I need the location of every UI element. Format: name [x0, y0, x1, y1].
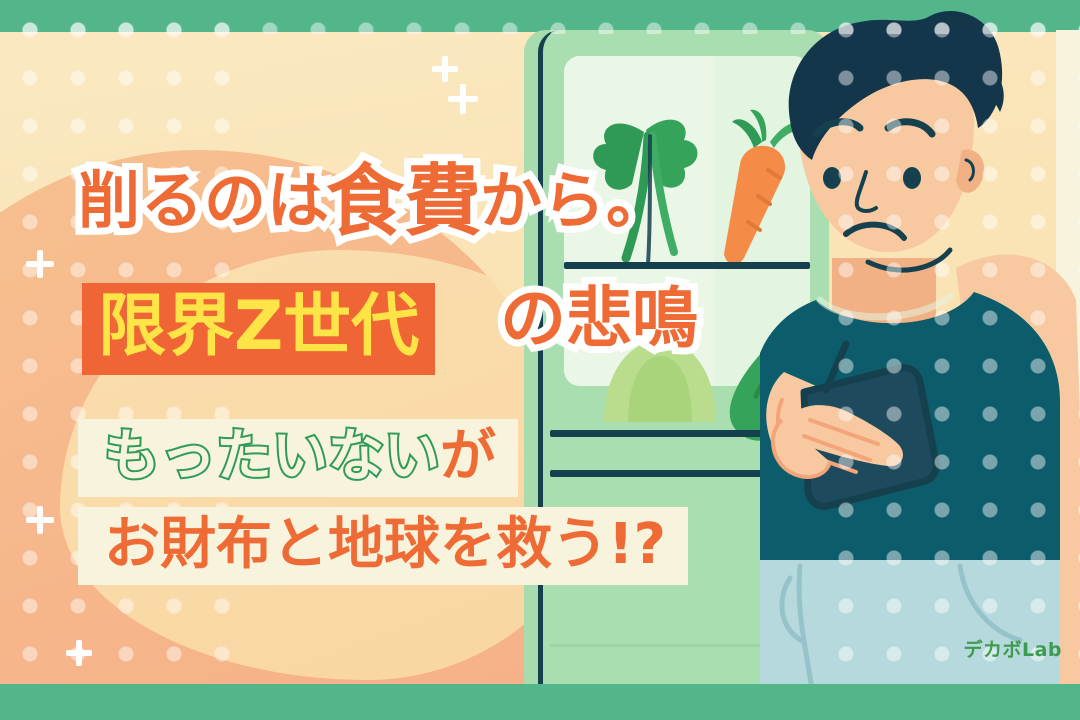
- man-illustration: [760, 0, 1080, 700]
- headline-line-1b: 食費: [326, 157, 482, 247]
- headline-line-1: 削るのは 削るのは 食費 食費 から。 から。: [78, 163, 669, 241]
- headline-line-2-banner: 限界Z世代: [82, 283, 435, 375]
- poster-canvas: 削るのは 削るのは 食費 食費 から。 から。 限界Z世代 の悲鳴 の悲鳴 もっ…: [0, 0, 1080, 720]
- headline-line-2-tail: の悲鳴 の悲鳴: [500, 286, 698, 352]
- dekabo-lab-logo: デカボLab: [963, 635, 1062, 662]
- headline-line-3-banner: もったいないが: [78, 419, 518, 497]
- headline-line-4-banner: お財布と地球を救う!?: [78, 507, 688, 585]
- headline-line-1a: 削るのは: [78, 164, 330, 237]
- plus-decor-icon-1: [432, 56, 458, 82]
- headline-line-2-banner-text: 限界Z世代: [98, 287, 419, 366]
- plus-decor-icon-2: [448, 84, 478, 114]
- headline-line-1c: から。: [480, 164, 669, 237]
- headline-line-4: お財布と地球を救う!?: [104, 512, 666, 577]
- headline-line-3a: もったいない: [104, 424, 440, 489]
- plus-decor-icon-5: [66, 640, 92, 666]
- headline-line-3b: が: [440, 424, 496, 489]
- bottom-green-band: [0, 684, 1080, 720]
- plus-decor-icon-3: [26, 250, 54, 278]
- plus-decor-icon-4: [26, 506, 54, 534]
- headline-line-2-tail-text: の悲鳴: [500, 280, 698, 357]
